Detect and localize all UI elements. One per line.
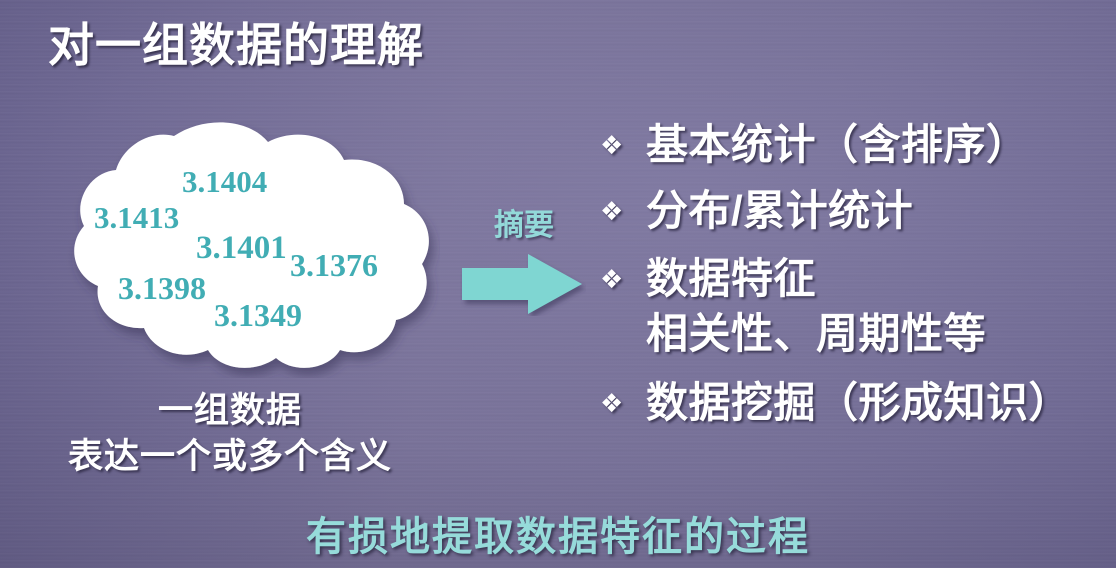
list-item-label: 分布/累计统计 xyxy=(646,184,1116,238)
list-item-body: 分布/累计统计 xyxy=(646,184,1116,238)
list-item: ❖ 基本统计（含排序） xyxy=(596,118,1116,172)
list-item-label: 基本统计（含排序） xyxy=(646,118,1116,172)
diamond-bullet-icon: ❖ xyxy=(596,252,646,306)
cloud-caption: 一组数据 表达一个或多个含义 xyxy=(0,388,460,480)
list-item: ❖ 数据挖掘（形成知识） xyxy=(596,376,1116,430)
cloud-caption-line-2: 表达一个或多个含义 xyxy=(0,434,460,480)
cloud-number: 3.1349 xyxy=(214,297,302,334)
data-cloud: 3.1404 3.1413 3.1401 3.1376 3.1398 3.134… xyxy=(36,122,440,378)
list-item-body: 数据特征 相关性、周期性等 xyxy=(646,252,1116,362)
cloud-number: 3.1413 xyxy=(94,200,179,236)
cloud-caption-line-1: 一组数据 xyxy=(0,388,460,434)
cloud-number: 3.1376 xyxy=(290,247,378,284)
list-item-label: 数据挖掘（形成知识） xyxy=(646,376,1116,430)
cloud-number: 3.1404 xyxy=(182,164,267,200)
slide-canvas: 对一组数据的理解 3.1404 3.1413 3.1401 3.1376 3.1… xyxy=(0,0,1116,568)
cloud-number: 3.1398 xyxy=(118,270,206,307)
diamond-bullet-icon: ❖ xyxy=(596,184,646,238)
diamond-bullet-icon: ❖ xyxy=(596,376,646,430)
list-item-body: 数据挖掘（形成知识） xyxy=(646,376,1116,430)
list-item-sublabel: 相关性、周期性等 xyxy=(646,306,1116,362)
summary-list: ❖ 基本统计（含排序） ❖ 分布/累计统计 ❖ 数据特征 相关性、周期性等 ❖ … xyxy=(596,118,1116,436)
diamond-bullet-icon: ❖ xyxy=(596,118,646,172)
list-item-label: 数据特征 xyxy=(646,252,1116,306)
list-item: ❖ 分布/累计统计 xyxy=(596,184,1116,238)
arrow-label: 摘要 xyxy=(462,200,586,244)
arrow-right-icon xyxy=(460,252,586,316)
list-item: ❖ 数据特征 相关性、周期性等 xyxy=(596,252,1116,362)
page-title: 对一组数据的理解 xyxy=(48,9,424,75)
list-item-body: 基本统计（含排序） xyxy=(646,118,1116,172)
cloud-number: 3.1401 xyxy=(196,230,287,267)
footer-caption: 有损地提取数据特征的过程 xyxy=(0,504,1116,562)
